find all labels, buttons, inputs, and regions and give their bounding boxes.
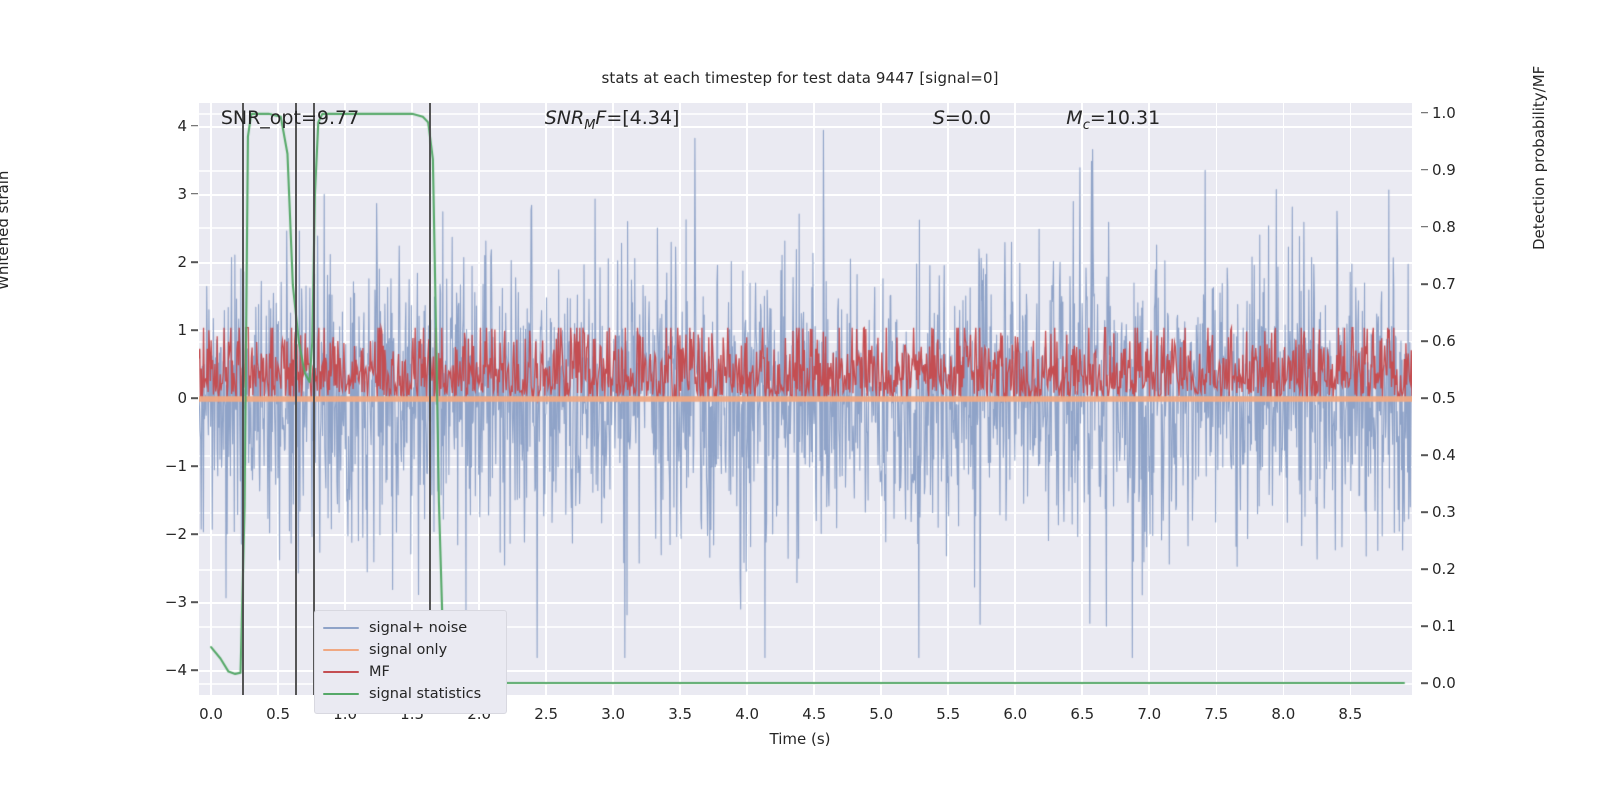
chart-legend[interactable]: signal+ noisesignal onlyMFsignal statist… [314,610,507,714]
y-tick-right-label: 0.2 [1432,560,1456,578]
tick-mark [1421,511,1428,513]
y-tick-left-label: 0 [177,389,187,407]
tick-mark [191,669,198,671]
x-tick-label: 5.5 [918,705,978,723]
legend-label: signal statistics [369,686,481,702]
y-tick-right-label: 0.9 [1432,161,1456,179]
y-tick-right-label: 0.6 [1432,332,1456,350]
tick-mark [1421,397,1428,399]
y-tick-left: 3 [147,185,187,203]
event-marker-line [313,103,315,695]
event-marker-line [429,103,431,695]
legend-label: signal+ noise [369,620,467,636]
y-tick-left-label: 4 [177,117,187,135]
legend-swatch-icon [323,649,359,651]
y-tick-right-label: 0.4 [1432,446,1456,464]
chart-title: stats at each timestep for test data 944… [0,69,1600,87]
tick-mark [191,397,198,399]
tick-mark [191,601,198,603]
y-tick-right-label: 0.3 [1432,503,1456,521]
x-tick-label: 0.5 [248,705,308,723]
y-tick-left: 2 [147,253,187,271]
x-tick-label: 5.0 [851,705,911,723]
tick-mark [1421,283,1428,285]
legend-swatch-icon [323,671,359,673]
y-tick-left-label: −1 [165,457,187,475]
y-tick-right-label: 0.5 [1432,389,1456,407]
x-tick-label: 4.0 [717,705,777,723]
tick-mark [191,261,198,263]
y-tick-right: 0.8 [1432,218,1482,236]
y-tick-right-label: 1.0 [1432,104,1456,122]
y-tick-right: 0.3 [1432,503,1482,521]
y-tick-right: 0.2 [1432,560,1482,578]
legend-label: signal only [369,642,447,658]
annotation-s: S=0.0 [933,107,991,129]
tick-mark [1421,454,1428,456]
legend-item-signal-noise[interactable]: signal+ noise [323,617,498,639]
tick-mark [1421,112,1428,114]
y-tick-left: 0 [147,389,187,407]
legend-item-signal-only[interactable]: signal only [323,639,498,661]
y-tick-right: 0.5 [1432,389,1482,407]
tick-mark [1421,226,1428,228]
annotation-snr-opt: SNR_opt=9.77 [221,107,359,129]
y-tick-right-label: 0.1 [1432,617,1456,635]
x-tick-label: 7.0 [1119,705,1179,723]
y-tick-left-label: −2 [165,525,187,543]
y-axis-right-label: Detection probability/MF [1530,66,1548,250]
figure-canvas: stats at each timestep for test data 944… [0,0,1600,800]
y-tick-left-label: 3 [177,185,187,203]
x-tick-label: 4.5 [784,705,844,723]
legend-label: MF [369,664,390,680]
legend-item-mf[interactable]: MF [323,661,498,683]
y-tick-right: 0.9 [1432,161,1482,179]
legend-swatch-icon [323,693,359,695]
x-tick-label: 8.5 [1320,705,1380,723]
x-tick-label: 6.0 [985,705,1045,723]
x-tick-label: 7.5 [1186,705,1246,723]
y-tick-right: 1.0 [1432,104,1482,122]
annotation-mc: Mc=10.31 [1066,107,1160,133]
legend-swatch-icon [323,627,359,629]
y-tick-right: 0.0 [1432,674,1482,692]
tick-mark [191,329,198,331]
x-tick-label: 8.0 [1253,705,1313,723]
tick-mark [191,125,198,127]
y-tick-left: −1 [147,457,187,475]
y-tick-left: −3 [147,593,187,611]
tick-mark [191,533,198,535]
y-tick-left-label: 2 [177,253,187,271]
y-tick-left: −4 [147,661,187,679]
y-tick-right: 0.1 [1432,617,1482,635]
annotation-snr-mf: SNRMF=[4.34] [545,107,680,133]
y-tick-left-label: −4 [165,661,187,679]
tick-mark [1421,340,1428,342]
y-axis-left-label: Whitened strain [0,171,12,290]
y-tick-left-label: −3 [165,593,187,611]
y-tick-left: −2 [147,525,187,543]
tick-mark [1421,568,1428,570]
y-tick-left: 4 [147,117,187,135]
y-tick-right: 0.7 [1432,275,1482,293]
plot-area: SNR_opt=9.77 SNRMF=[4.34] S=0.0 Mc=10.31 [199,103,1412,695]
tick-mark [191,465,198,467]
x-axis-label: Time (s) [0,730,1600,748]
legend-item-signal-statistics[interactable]: signal statistics [323,683,498,705]
y-tick-left: 1 [147,321,187,339]
x-tick-label: 6.5 [1052,705,1112,723]
y-tick-right: 0.6 [1432,332,1482,350]
x-tick-label: 2.5 [516,705,576,723]
x-tick-label: 3.0 [583,705,643,723]
x-tick-label: 0.0 [181,705,241,723]
event-marker-line [242,103,244,695]
y-tick-left-label: 1 [177,321,187,339]
event-marker-line [295,103,297,695]
series-signal-statistics [199,103,1412,695]
tick-mark [1421,625,1428,627]
y-tick-right-label: 0.7 [1432,275,1456,293]
y-tick-right: 0.4 [1432,446,1482,464]
tick-mark [191,193,198,195]
x-tick-label: 3.5 [650,705,710,723]
tick-mark [1421,169,1428,171]
y-tick-right-label: 0.8 [1432,218,1456,236]
tick-mark [1421,682,1428,684]
y-tick-right-label: 0.0 [1432,674,1456,692]
